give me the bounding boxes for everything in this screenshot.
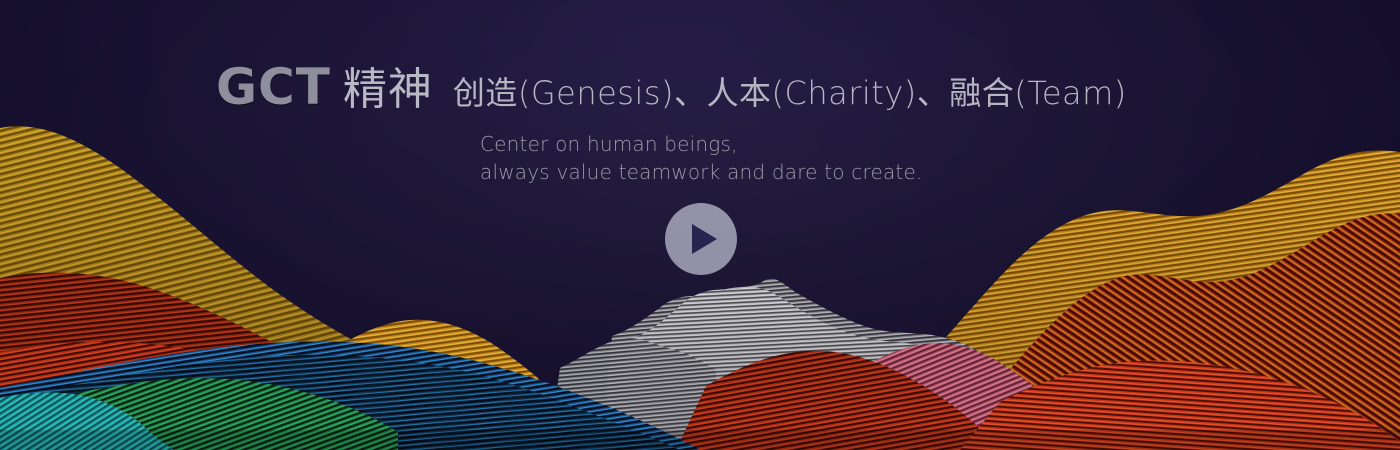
- subtitle-block: Center on human beings, always value tea…: [480, 130, 1127, 187]
- gct-spirit-banner: GCT 精神 创造(Genesis)、人本(Charity)、融合(Team) …: [0, 0, 1400, 450]
- play-video-button[interactable]: [665, 203, 737, 275]
- logo-gct-text: GCT: [216, 62, 331, 112]
- play-triangle-icon: [692, 224, 717, 254]
- logo-cn-text: 精神: [343, 68, 433, 112]
- tagline-text: 创造(Genesis)、人本(Charity)、融合(Team): [453, 77, 1127, 109]
- banner-text-block: GCT 精神 创造(Genesis)、人本(Charity)、融合(Team) …: [216, 62, 1127, 187]
- subtitle-line-1: Center on human beings,: [480, 130, 1127, 158]
- subtitle-line-2: always value teamwork and dare to create…: [480, 158, 1127, 186]
- headline-row: GCT 精神 创造(Genesis)、人本(Charity)、融合(Team): [216, 62, 1127, 112]
- layer-foreground-shadow: [0, 430, 1400, 450]
